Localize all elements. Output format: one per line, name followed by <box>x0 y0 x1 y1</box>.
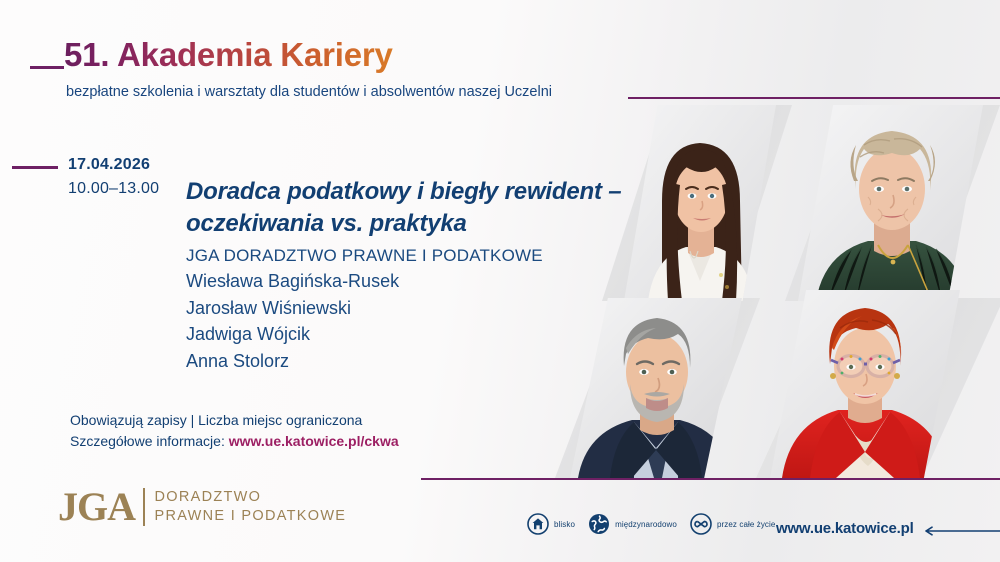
sponsor-logo-text: DORADZTWO PRAWNE I PODATKOWE <box>155 488 347 526</box>
registration-details: Szczegółowe informacje: www.ue.katowice.… <box>70 431 399 452</box>
footer-icon-label: międzynarodowo <box>615 520 677 529</box>
list-item: Wiesława Bagińska-Rusek <box>186 268 543 295</box>
registration-details-label: Szczegółowe informacje: <box>70 433 229 449</box>
sponsor-logo-line2: PRAWNE I PODATKOWE <box>155 507 347 526</box>
registration-note: Obowiązują zapisy | Liczba miejsc ograni… <box>70 410 399 431</box>
footer-icon-row: blisko międzynarodowo przez całe życie <box>527 513 788 535</box>
registration-info: Obowiązują zapisy | Liczba miejsc ograni… <box>70 410 399 452</box>
footer-icon-przez-cale-zycie: przez całe życie <box>690 513 776 535</box>
list-item: Jadwiga Wójcik <box>186 321 543 348</box>
footer-icon-label: przez całe życie <box>717 520 776 529</box>
list-item: Jarosław Wiśniewski <box>186 295 543 322</box>
sponsor-logo: JGA DORADZTWO PRAWNE I PODATKOWE <box>58 487 346 527</box>
page-title: 51. Akademia Kariery <box>64 36 393 74</box>
speaker-photo <box>798 105 983 301</box>
accent-rule-subtitle <box>628 97 1000 99</box>
accent-rule-footer <box>421 478 1000 480</box>
speaker-photo-collage <box>560 100 1000 478</box>
accent-rule-left-of-number <box>30 66 64 69</box>
promo-banner: 51. Akademia Kariery bezpłatne szkolenia… <box>0 0 1000 562</box>
speaker-company: JGA DORADZTWO PRAWNE I PODATKOWE <box>186 243 543 268</box>
sponsor-logo-divider <box>143 488 145 526</box>
footer-icon-miedzynarodowo: międzynarodowo <box>588 513 677 535</box>
page-subtitle: bezpłatne szkolenia i warsztaty dla stud… <box>66 84 552 100</box>
sponsor-logo-mark: JGA <box>58 487 135 527</box>
sponsor-logo-line1: DORADZTWO <box>155 488 347 507</box>
infinity-icon <box>690 513 712 535</box>
edition-number: 51 <box>64 36 100 73</box>
house-icon <box>527 513 549 535</box>
event-date: 17.04.2026 <box>68 156 150 174</box>
event-time: 10.00–13.00 <box>68 180 159 198</box>
footer-url[interactable]: www.ue.katowice.pl <box>776 520 914 537</box>
accent-rule-date <box>12 166 58 169</box>
speakers-list: JGA DORADZTWO PRAWNE I PODATKOWE Wiesław… <box>186 243 543 374</box>
registration-link[interactable]: www.ue.katowice.pl/ckwa <box>229 433 399 449</box>
footer-icon-blisko: blisko <box>527 513 575 535</box>
title-text: Akademia Kariery <box>117 36 393 73</box>
list-item: Anna Stolorz <box>186 348 543 375</box>
speaker-photo <box>570 298 742 478</box>
footer-icon-label: blisko <box>554 520 575 529</box>
title-separator: . <box>100 36 109 73</box>
globe-icon <box>588 513 610 535</box>
speaker-photo <box>624 105 776 301</box>
arrow-left-icon <box>921 526 1000 536</box>
